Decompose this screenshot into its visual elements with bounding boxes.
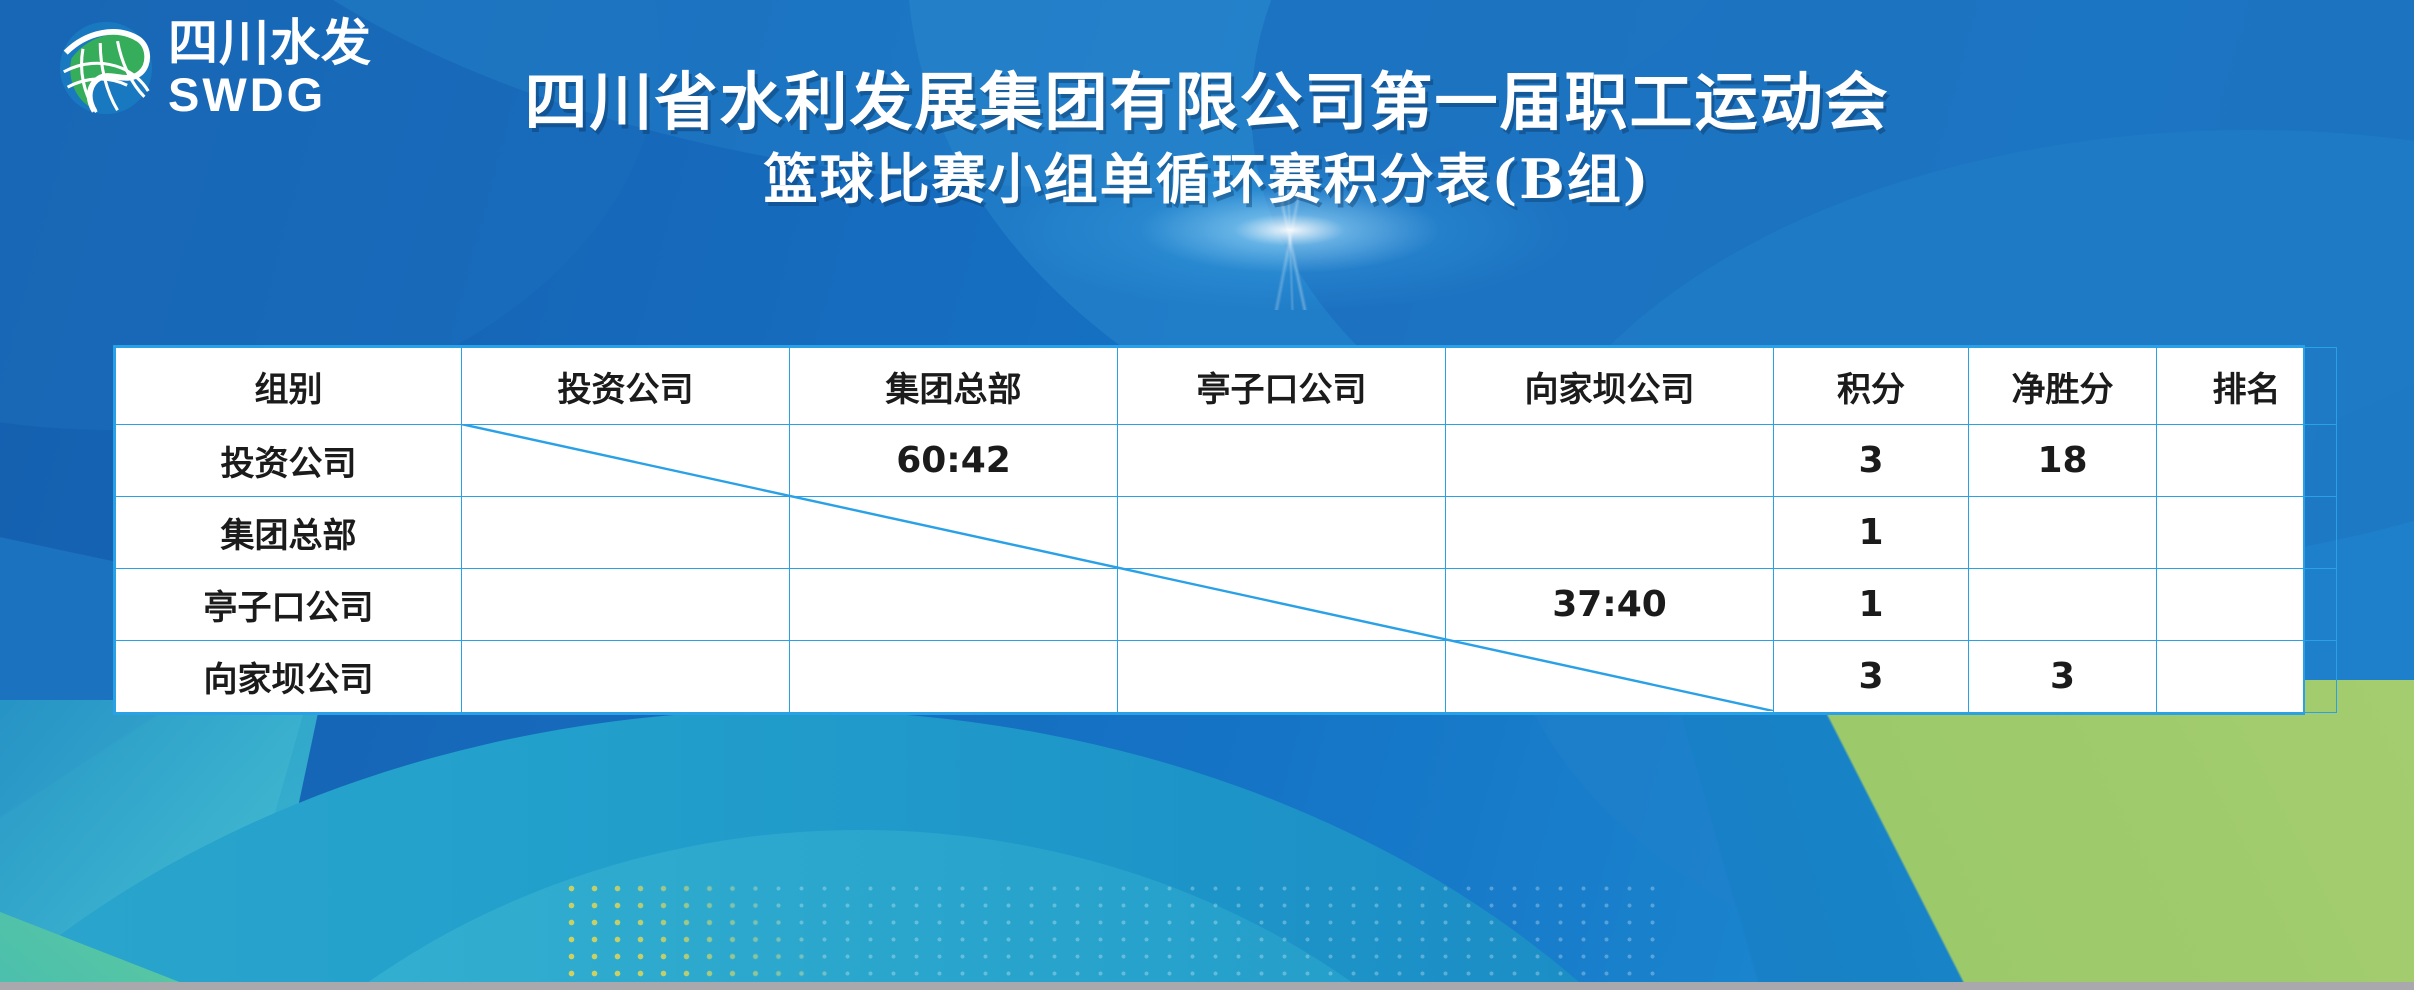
standings-table-container: 组别 投资公司 集团总部 亭子口公司 向家坝公司 积分 净胜分 排名 投资公司 …	[113, 345, 2305, 715]
cell-vs-hq	[790, 641, 1118, 713]
standings-table-head: 组别 投资公司 集团总部 亭子口公司 向家坝公司 积分 净胜分 排名	[116, 348, 2337, 425]
cell-vs-xiangjiaba: 37:40	[1446, 569, 1774, 641]
cell-point-diff: 18	[1969, 425, 2157, 497]
cell-rank	[2157, 425, 2337, 497]
cell-vs-investment	[462, 497, 790, 569]
column-header-tingzikou: 亭子口公司	[1118, 348, 1446, 425]
background-bottom-right-green-wedge	[1654, 680, 2414, 990]
page-title: 四川省水利发展集团有限公司第一届职工运动会	[0, 52, 2414, 143]
table-row: 投资公司 60:42 3 18	[116, 425, 2337, 497]
cell-vs-hq: 60:42	[790, 425, 1118, 497]
cell-vs-tingzikou	[1118, 497, 1446, 569]
cell-point-diff: 3	[1969, 641, 2157, 713]
column-header-investment: 投资公司	[462, 348, 790, 425]
cell-rank	[2157, 497, 2337, 569]
background-bottom-bar	[0, 982, 2414, 990]
cell-vs-investment	[462, 425, 790, 497]
cell-vs-hq	[790, 497, 1118, 569]
row-team-name: 投资公司	[116, 425, 462, 497]
cell-rank	[2157, 641, 2337, 713]
cell-points: 3	[1774, 641, 1969, 713]
cell-vs-investment	[462, 641, 790, 713]
column-header-group: 组别	[116, 348, 462, 425]
row-team-name: 向家坝公司	[116, 641, 462, 713]
page-subtitle: 篮球比赛小组单循环赛积分表(B组)	[0, 135, 2414, 214]
cell-vs-tingzikou	[1118, 425, 1446, 497]
cell-vs-tingzikou	[1118, 569, 1446, 641]
cell-point-diff	[1969, 569, 2157, 641]
cell-vs-xiangjiaba	[1446, 425, 1774, 497]
standings-table-body: 投资公司 60:42 3 18 集团总部 1	[116, 425, 2337, 713]
column-header-point-diff: 净胜分	[1969, 348, 2157, 425]
poster-root: 四川水发 SWDG 四川省水利发展集团有限公司第一届职工运动会 篮球比赛小组单循…	[0, 0, 2414, 990]
row-team-name: 集团总部	[116, 497, 462, 569]
table-row: 向家坝公司 3 3	[116, 641, 2337, 713]
cell-vs-xiangjiaba	[1446, 641, 1774, 713]
cell-rank	[2157, 569, 2337, 641]
row-team-name: 亭子口公司	[116, 569, 462, 641]
cell-point-diff	[1969, 497, 2157, 569]
column-header-hq: 集团总部	[790, 348, 1118, 425]
cell-vs-investment	[462, 569, 790, 641]
column-header-xiangjiaba: 向家坝公司	[1446, 348, 1774, 425]
table-row: 亭子口公司 37:40 1	[116, 569, 2337, 641]
cell-vs-hq	[790, 569, 1118, 641]
cell-points: 3	[1774, 425, 1969, 497]
column-header-rank: 排名	[2157, 348, 2337, 425]
column-header-points: 积分	[1774, 348, 1969, 425]
standings-table: 组别 投资公司 集团总部 亭子口公司 向家坝公司 积分 净胜分 排名 投资公司 …	[115, 347, 2337, 713]
cell-points: 1	[1774, 497, 1969, 569]
cell-vs-xiangjiaba	[1446, 497, 1774, 569]
background-dot-matrix-warm	[560, 880, 1180, 990]
cell-vs-tingzikou	[1118, 641, 1446, 713]
table-header-row: 组别 投资公司 集团总部 亭子口公司 向家坝公司 积分 净胜分 排名	[116, 348, 2337, 425]
table-row: 集团总部 1	[116, 497, 2337, 569]
cell-points: 1	[1774, 569, 1969, 641]
